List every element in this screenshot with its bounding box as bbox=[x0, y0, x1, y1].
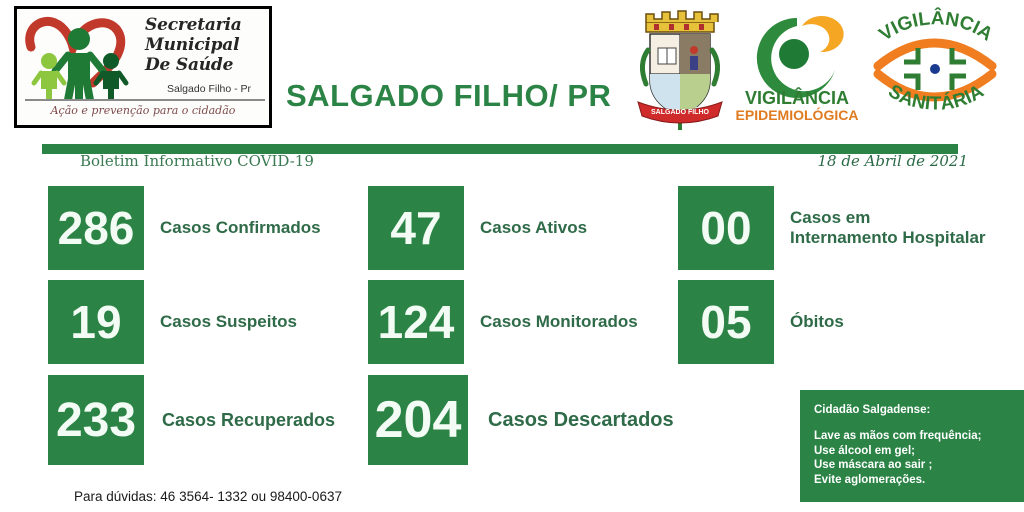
stat-label: Casos Ativos bbox=[480, 218, 587, 238]
stat-label: Casos Confirmados bbox=[160, 218, 321, 238]
tips-title: Cidadão Salgadense: bbox=[814, 404, 1024, 416]
stat-casos-monitorados: 124 Casos Monitorados bbox=[368, 280, 638, 364]
page-title: SALGADO FILHO/ PR bbox=[286, 78, 611, 114]
logo-wordmark: Secretaria Municipal De Saúde bbox=[145, 15, 269, 75]
stat-label: Casos em Internamento Hospitalar bbox=[790, 208, 986, 247]
stat-obitos: 05 Óbitos bbox=[678, 280, 844, 364]
logo-line-2: Municipal bbox=[145, 35, 269, 55]
stat-value: 00 bbox=[678, 186, 774, 270]
stat-casos-suspeitos: 19 Casos Suspeitos bbox=[48, 280, 297, 364]
vig-epi-line-1: VIGILÂNCIA bbox=[745, 87, 849, 108]
stat-value: 286 bbox=[48, 186, 144, 270]
logo-line-1: Secretaria bbox=[145, 15, 269, 35]
logo-city-label: Salgado Filho - Pr bbox=[167, 83, 251, 95]
bulletin-date: 18 de Abril de 2021 bbox=[818, 152, 969, 170]
tip-item: Evite aglomerações. bbox=[814, 473, 1024, 488]
stat-casos-recuperados: 233 Casos Recuperados bbox=[48, 375, 335, 465]
svg-text:SANITÁRIA: SANITÁRIA bbox=[884, 81, 987, 115]
tip-item: Use máscara ao sair ; bbox=[814, 458, 1024, 473]
health-department-logo: Secretaria Municipal De Saúde Salgado Fi… bbox=[14, 6, 272, 128]
stat-casos-descartados: 204 Casos Descartados bbox=[368, 375, 674, 465]
stat-casos-confirmados: 286 Casos Confirmados bbox=[48, 186, 321, 270]
stat-label: Casos Recuperados bbox=[162, 410, 335, 431]
stat-label: Casos Suspeitos bbox=[160, 312, 297, 332]
prevention-tips-card: Cidadão Salgadense: Lave as mãos com fre… bbox=[800, 390, 1024, 502]
vig-epi-line-2: EPIDEMIOLÓGICA bbox=[736, 106, 858, 123]
stat-value: 19 bbox=[48, 280, 144, 364]
bulletin-subtitle: Boletim Informativo COVID-19 bbox=[80, 152, 314, 170]
contact-info: Para dúvidas: 46 3564- 1332 ou 98400-063… bbox=[74, 489, 342, 504]
stat-casos-internamento-hospitalar: 00 Casos em Internamento Hospitalar bbox=[678, 186, 986, 270]
vigilancia-sanitaria-logo: VIGILÂNCIA SANITÁRIA bbox=[862, 4, 1008, 132]
stat-value: 05 bbox=[678, 280, 774, 364]
stat-value: 124 bbox=[368, 280, 464, 364]
tip-item: Lave as mãos com frequência; bbox=[814, 429, 1024, 444]
heart-family-icon bbox=[23, 13, 145, 101]
logo-tagline: Ação e prevenção para o cidadão bbox=[17, 104, 269, 117]
municipal-coat-of-arms-icon: SALGADO FILHO bbox=[628, 6, 732, 132]
stat-value: 233 bbox=[48, 375, 144, 465]
tip-item: Use álcool em gel; bbox=[814, 444, 1024, 459]
stat-label: Óbitos bbox=[790, 312, 844, 332]
logo-line-3: De Saúde bbox=[145, 55, 269, 75]
logo-divider bbox=[25, 99, 265, 101]
vig-san-line-2: SANITÁRIA bbox=[884, 81, 987, 115]
stat-value: 47 bbox=[368, 186, 464, 270]
stat-casos-ativos: 47 Casos Ativos bbox=[368, 186, 587, 270]
crest-banner-text: SALGADO FILHO bbox=[651, 109, 709, 116]
stat-label: Casos Monitorados bbox=[480, 312, 638, 332]
vigilancia-epidemiologica-logo: VIGILÂNCIA EPIDEMIOLÓGICA bbox=[736, 8, 858, 130]
page-header: Secretaria Municipal De Saúde Salgado Fi… bbox=[0, 0, 1024, 140]
stat-label: Casos Descartados bbox=[488, 409, 674, 432]
stat-value: 204 bbox=[368, 375, 468, 465]
